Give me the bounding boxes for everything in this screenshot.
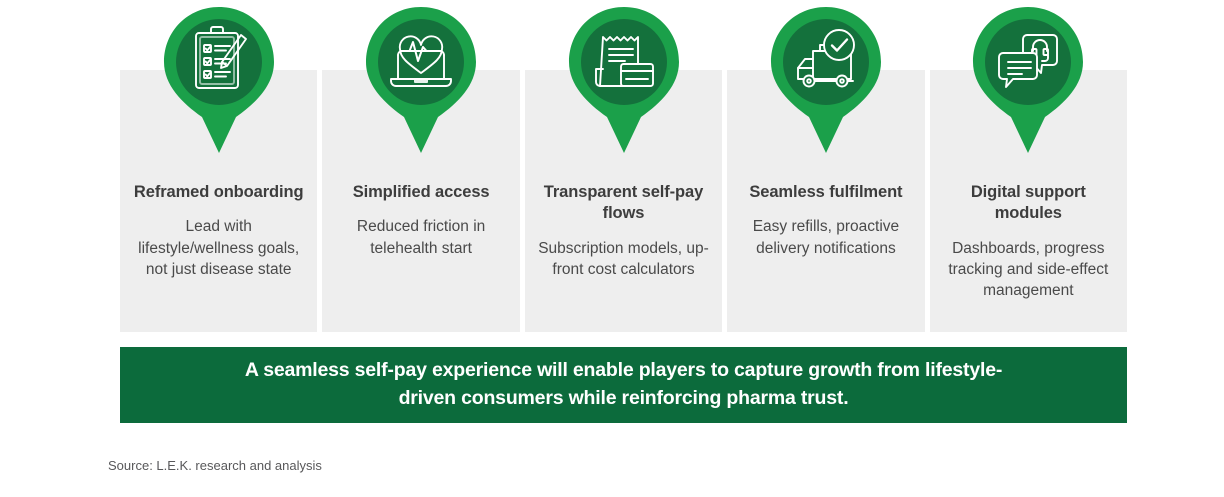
infographic-canvas: Reframed onboarding Lead with lifestyle/…: [0, 0, 1224, 497]
pin-marker-4: [769, 7, 883, 153]
column-description: Reduced friction in telehealth start: [334, 216, 508, 258]
laptop-heartbeat-icon: [364, 7, 478, 153]
column-title: Digital support modules: [943, 182, 1113, 225]
column-title: Transparent self-pay flows: [539, 182, 709, 225]
column-digital-support-modules: Digital support modules Dashboards, prog…: [930, 70, 1127, 332]
delivery-truck-check-icon: [769, 7, 883, 153]
pin-marker-5: [971, 7, 1085, 153]
column-seamless-fulfilment: Seamless fulfilment Easy refills, proact…: [727, 70, 924, 332]
column-reframed-onboarding: Reframed onboarding Lead with lifestyle/…: [120, 70, 317, 332]
column-description: Dashboards, progress tracking and side-e…: [941, 238, 1115, 301]
column-description: Lead with lifestyle/wellness goals, not …: [132, 216, 306, 279]
pin-marker-1: [162, 7, 276, 153]
pin-marker-3: [567, 7, 681, 153]
source-note: Source: L.E.K. research and analysis: [108, 458, 322, 473]
clipboard-checklist-pen-icon: [162, 7, 276, 153]
summary-banner: A seamless self-pay experience will enab…: [120, 347, 1127, 423]
column-simplified-access: Simplified access Reduced friction in te…: [322, 70, 519, 332]
column-description: Subscription models, up-front cost calcu…: [537, 238, 711, 280]
column-description: Easy refills, proactive delivery notific…: [739, 216, 913, 258]
columns-row: Reframed onboarding Lead with lifestyle/…: [120, 70, 1127, 332]
column-title: Seamless fulfilment: [741, 182, 911, 203]
pin-marker-2: [364, 7, 478, 153]
column-title: Simplified access: [336, 182, 506, 203]
column-transparent-self-pay-flows: Transparent self-pay flows Subscription …: [525, 70, 722, 332]
receipt-credit-card-icon: [567, 7, 681, 153]
column-title: Reframed onboarding: [134, 182, 304, 203]
chat-bubbles-headset-icon: [971, 7, 1085, 153]
summary-banner-text: A seamless self-pay experience will enab…: [221, 357, 1027, 412]
